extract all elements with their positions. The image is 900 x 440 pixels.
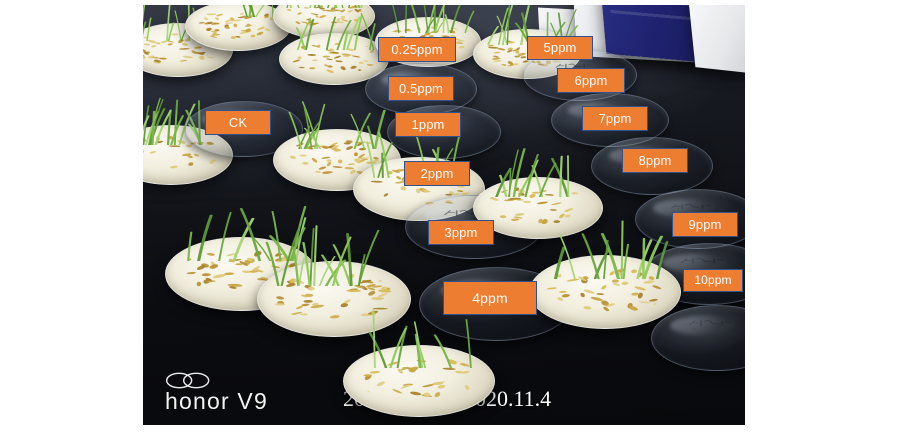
- concentration-label: 5ppm: [527, 36, 593, 60]
- concentration-label: 8ppm: [622, 148, 688, 173]
- lid-marker-writing: [678, 252, 740, 262]
- lid-marker-writing: [668, 198, 728, 207]
- experiment-photo: 0.25ppm5ppm0.5ppm6ppmCK1ppm7ppm2ppm8ppm3…: [143, 5, 745, 425]
- concentration-label: 0.5ppm: [388, 76, 454, 101]
- petri-dish: [529, 255, 681, 329]
- seed-cluster: [486, 186, 591, 226]
- reagent-box-white-right: [687, 5, 745, 76]
- concentration-label: 10ppm: [683, 269, 743, 292]
- seed-cluster: [358, 356, 481, 402]
- slide-canvas: 0.25ppm5ppm0.5ppm6ppmCK1ppm7ppm2ppm8ppm3…: [0, 0, 900, 440]
- lid-marker-writing: [686, 315, 745, 325]
- seed-cluster: [290, 41, 379, 74]
- concentration-label: 1ppm: [395, 112, 461, 137]
- concentration-label: 4ppm: [443, 281, 537, 315]
- seed-cluster: [195, 9, 280, 41]
- concentration-label: 7ppm: [582, 106, 648, 131]
- petri-dish: [257, 261, 411, 337]
- concentration-label: 2ppm: [404, 161, 470, 186]
- concentration-label: 9ppm: [672, 212, 738, 237]
- seed-cluster: [544, 266, 667, 314]
- concentration-label: 3ppm: [428, 220, 494, 245]
- seed-cluster: [272, 272, 397, 321]
- concentration-label: CK: [205, 110, 271, 135]
- petri-dish: [343, 345, 495, 417]
- seed-cluster: [283, 5, 365, 29]
- concentration-label: 6ppm: [557, 68, 625, 93]
- concentration-label: 0.25ppm: [378, 37, 456, 62]
